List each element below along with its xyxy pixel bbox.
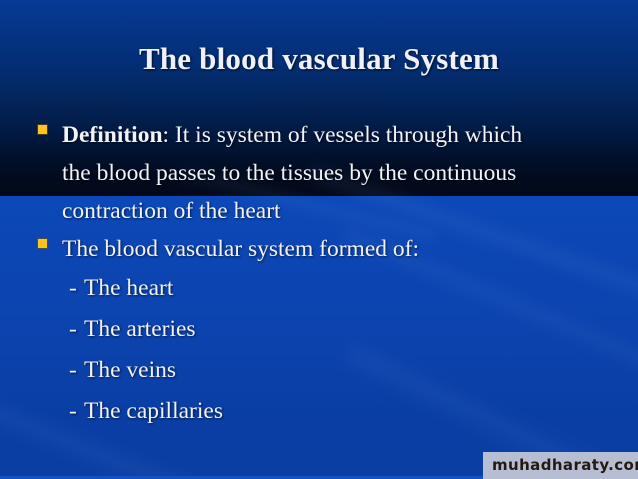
slide-title: The blood vascular System <box>0 41 638 77</box>
watermark-label: muhadharaty.com <box>492 456 638 474</box>
sub-list-item-label: The arteries <box>84 316 196 342</box>
presentation-slide: The blood vascular System Definition: It… <box>0 0 638 479</box>
bullet-item-definition: Definition: It is system of vessels thro… <box>0 116 638 230</box>
bullet-item-text: The blood vascular system formed of: <box>38 230 548 268</box>
dash-icon: - <box>69 391 84 432</box>
dash-icon: - <box>69 350 84 391</box>
bullet-item-components: The blood vascular system formed of: <box>0 230 638 268</box>
sub-list-item: -The arteries <box>0 309 638 350</box>
sub-list-item: -The veins <box>0 350 638 391</box>
watermark-band: muhadharaty.com <box>483 452 638 479</box>
sub-list-item: -The heart <box>0 268 638 309</box>
sub-list-item-label: The heart <box>84 275 173 301</box>
dash-icon: - <box>69 268 84 309</box>
sub-list-item: -The capillaries <box>0 391 638 432</box>
sub-list-item-label: The capillaries <box>84 398 223 424</box>
slide-body: Definition: It is system of vessels thro… <box>0 116 638 432</box>
square-bullet-icon <box>38 239 47 248</box>
dash-icon: - <box>69 309 84 350</box>
bullet-body-label: The blood vascular system formed of: <box>62 236 419 262</box>
square-bullet-icon <box>38 125 47 134</box>
bullet-item-text: Definition: It is system of vessels thro… <box>38 116 548 230</box>
sub-list-item-label: The veins <box>84 357 176 383</box>
bullet-lead-label: Definition <box>62 122 163 148</box>
